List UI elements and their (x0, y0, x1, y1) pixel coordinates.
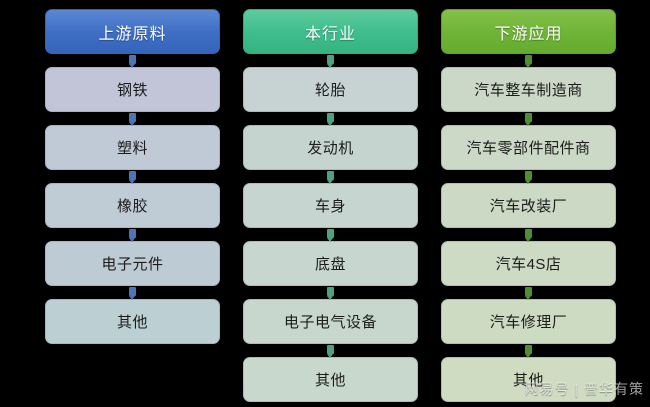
node-downstream-2[interactable]: 汽车改装厂 (441, 183, 616, 228)
node-downstream-5[interactable]: 其他 (441, 357, 616, 402)
arrow-down-icon (441, 170, 616, 183)
node-industry-4[interactable]: 电子电气设备 (243, 299, 418, 344)
node-industry-1[interactable]: 发动机 (243, 125, 418, 170)
arrow-down-icon (45, 228, 220, 241)
arrow-down-icon (441, 54, 616, 67)
node-upstream-4[interactable]: 其他 (45, 299, 220, 344)
node-upstream-3[interactable]: 电子元件 (45, 241, 220, 286)
arrow-down-icon (243, 344, 418, 357)
node-upstream-1[interactable]: 塑料 (45, 125, 220, 170)
arrow-marker (129, 229, 136, 238)
arrow-down-icon (45, 170, 220, 183)
arrow-marker (327, 287, 334, 296)
node-industry-2[interactable]: 车身 (243, 183, 418, 228)
arrow-down-icon (243, 54, 418, 67)
node-industry-0[interactable]: 轮胎 (243, 67, 418, 112)
node-upstream-0[interactable]: 钢铁 (45, 67, 220, 112)
node-upstream-2[interactable]: 橡胶 (45, 183, 220, 228)
arrow-marker (327, 55, 334, 64)
arrow-marker (525, 171, 532, 180)
arrow-down-icon (45, 112, 220, 125)
arrow-down-icon (441, 344, 616, 357)
arrow-marker (525, 345, 532, 354)
arrow-down-icon (441, 228, 616, 241)
arrow-marker (327, 113, 334, 122)
arrow-down-icon (243, 112, 418, 125)
arrow-marker (525, 229, 532, 238)
arrow-marker (129, 55, 136, 64)
column-upstream: 上游原料钢铁塑料橡胶电子元件其他 (45, 0, 220, 344)
arrow-marker (129, 287, 136, 296)
arrow-marker (525, 55, 532, 64)
node-downstream-1[interactable]: 汽车零部件配件商 (441, 125, 616, 170)
column-header-industry[interactable]: 本行业 (243, 9, 418, 54)
node-downstream-4[interactable]: 汽车修理厂 (441, 299, 616, 344)
column-header-downstream[interactable]: 下游应用 (441, 9, 616, 54)
node-industry-5[interactable]: 其他 (243, 357, 418, 402)
arrow-down-icon (441, 286, 616, 299)
arrow-marker (327, 171, 334, 180)
node-downstream-3[interactable]: 汽车4S店 (441, 241, 616, 286)
arrow-marker (129, 113, 136, 122)
column-downstream: 下游应用汽车整车制造商汽车零部件配件商汽车改装厂汽车4S店汽车修理厂其他 (441, 0, 616, 402)
arrow-down-icon (243, 286, 418, 299)
arrow-marker (327, 229, 334, 238)
arrow-down-icon (45, 286, 220, 299)
column-industry: 本行业轮胎发动机车身底盘电子电气设备其他 (243, 0, 418, 402)
column-header-upstream[interactable]: 上游原料 (45, 9, 220, 54)
arrow-down-icon (45, 54, 220, 67)
arrow-down-icon (243, 170, 418, 183)
industry-chain-diagram: 上游原料钢铁塑料橡胶电子元件其他本行业轮胎发动机车身底盘电子电气设备其他下游应用… (0, 0, 650, 407)
arrow-marker (129, 171, 136, 180)
arrow-down-icon (441, 112, 616, 125)
node-industry-3[interactable]: 底盘 (243, 241, 418, 286)
arrow-marker (525, 113, 532, 122)
arrow-marker (327, 345, 334, 354)
arrow-down-icon (243, 228, 418, 241)
arrow-marker (525, 287, 532, 296)
node-downstream-0[interactable]: 汽车整车制造商 (441, 67, 616, 112)
